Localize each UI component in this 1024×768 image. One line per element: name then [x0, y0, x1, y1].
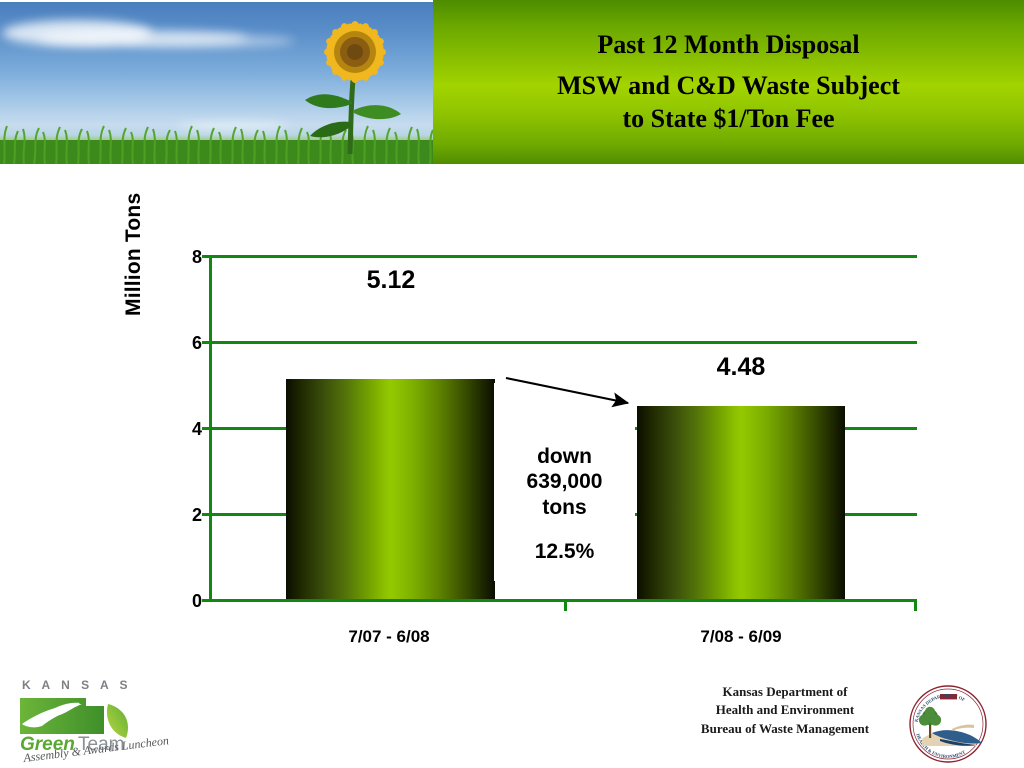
page-title-line-3: to State $1/Ton Fee — [622, 102, 834, 136]
y-axis-tick-label: 2 — [176, 506, 202, 524]
y-axis-title: Million Tons — [122, 193, 146, 316]
x-axis-category-label-0: 7/07 - 6/08 — [284, 628, 494, 645]
kdhe-seal-logo: KANSAS DEPARTMENT OF HEALTH & ENVIRONMEN… — [902, 683, 994, 765]
y-axis-tick-label: 0 — [176, 592, 202, 610]
logo-kansas-text: K A N S A S — [22, 678, 132, 692]
bar-series-0[interactable] — [286, 379, 495, 599]
footer-line-1: Kansas Department of — [690, 683, 880, 701]
callout-line-2: 639,000 — [527, 469, 603, 494]
data-label-0: 5.12 — [296, 268, 486, 293]
gridline-6 — [212, 341, 917, 344]
page-title-line-2: MSW and C&D Waste Subject — [557, 69, 900, 103]
page-title-line-1: Past 12 Month Disposal — [597, 28, 859, 62]
callout-percent: 12.5% — [535, 541, 595, 562]
x-axis-tick — [564, 602, 567, 611]
sunflower-illustration — [255, 6, 430, 164]
y-axis-tick — [202, 427, 212, 430]
gridline-8 — [212, 255, 917, 258]
bar-chart: Million Tons 8 6 4 2 0 5.12 — [0, 176, 1024, 656]
slide-canvas: Past 12 Month Disposal MSW and C&D Waste… — [0, 0, 1024, 768]
y-axis-tick — [202, 341, 212, 344]
sunflower-photo — [0, 2, 433, 164]
slide-title-banner: Past 12 Month Disposal MSW and C&D Waste… — [433, 0, 1024, 164]
callout-line-1: down — [527, 444, 603, 469]
footer-line-2: Health and Environment — [690, 701, 880, 719]
slide-header: Past 12 Month Disposal MSW and C&D Waste… — [0, 0, 1024, 164]
callout-text: down 639,000 tons — [527, 444, 603, 520]
y-axis-tick — [202, 513, 212, 516]
y-axis-tick-label: 6 — [176, 334, 202, 352]
y-axis-tick-label: 8 — [176, 248, 202, 266]
x-axis-tick — [914, 602, 917, 611]
bar-series-1[interactable] — [637, 406, 845, 599]
decline-arrow-icon — [498, 368, 646, 414]
kansas-green-team-logo: K A N S A S Green Team Assembly & Awards… — [8, 676, 174, 764]
footer-line-3: Bureau of Waste Management — [690, 720, 880, 738]
callout-line-3: tons — [527, 495, 603, 520]
data-label-1: 4.48 — [637, 355, 845, 380]
y-axis-tick-label: 4 — [176, 420, 202, 438]
x-axis-category-label-1: 7/08 - 6/09 — [636, 628, 846, 645]
footer-org-text: Kansas Department of Health and Environm… — [690, 683, 880, 738]
y-axis-tick — [202, 599, 212, 602]
y-axis-tick — [202, 255, 212, 258]
